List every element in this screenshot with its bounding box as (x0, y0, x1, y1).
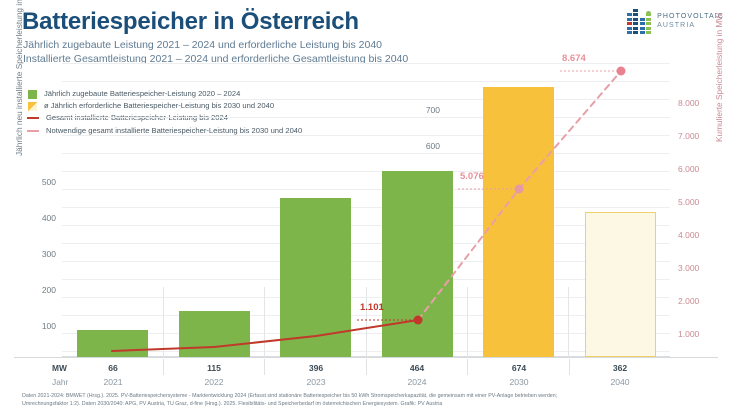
table-column-separator (366, 359, 367, 375)
table-row-label-mw: MW (52, 363, 67, 373)
table-cell-mw-2022: 115 (178, 363, 250, 373)
y-axis-right-tick-6000: 6.000 (678, 164, 718, 174)
footnote: Daten 2021-2024: BMWET (Hrsg.). 2025. PV… (22, 392, 722, 408)
table-cell-year-2022: 2022 (178, 377, 250, 387)
plot-area: 500 400 300 200 100 600 700 1.000 2.000 … (62, 52, 670, 357)
legend-swatch-yellow-square-icon (28, 102, 37, 111)
y-axis-right-tick-5000: 5.000 (678, 197, 718, 207)
datapoint-label-2030: 5.076 (460, 171, 484, 182)
table-column-separator (569, 359, 570, 375)
y-axis-left-tick-100: 100 (22, 321, 56, 331)
table-cell-mw-2024: 464 (381, 363, 453, 373)
y-axis-left-tick-300: 300 (22, 249, 56, 259)
y-axis-left-tick-200: 200 (22, 285, 56, 295)
table-cell-year-2021: 2021 (77, 377, 149, 387)
legend-swatch-green-square-icon (28, 90, 37, 99)
y-axis-left-title: Jährlich neu installierte Speicherleistu… (14, 0, 24, 156)
datapoint-label-2040: 8.674 (562, 53, 586, 64)
footnote-line-2: Umrechnungsfaktor 1:2). Daten 2030/2040:… (22, 400, 722, 408)
table-cell-year-2024: 2024 (381, 377, 453, 387)
table-column-separator (467, 359, 468, 375)
y-axis-right-title: Kumulierte Speicherleistung in MW (714, 0, 724, 142)
data-table: MW Jahr 66 115 396 464 674 362 2021 2022… (0, 357, 732, 391)
dashed-cumulative-line (418, 71, 621, 320)
datapoint-2040 (617, 67, 626, 76)
y-axis-right-tick-8000: 8.000 (678, 98, 718, 108)
datapoint-2024 (414, 316, 423, 325)
solid-cumulative-line (112, 320, 418, 351)
table-cell-mw-2021: 66 (77, 363, 149, 373)
y-axis-left-tick-400: 400 (22, 213, 56, 223)
table-cell-year-2030: 2030 (483, 377, 555, 387)
table-column-separator (163, 359, 164, 375)
subtitle-line-1: Jährlich zugebaute Leistung 2021 – 2024 … (23, 38, 408, 52)
datapoint-2030 (515, 185, 524, 194)
y-axis-right-tick-7000: 7.000 (678, 131, 718, 141)
photovoltaic-austria-logo: PHOTOVOLTAIC AUSTRIA (627, 8, 724, 34)
table-cell-mw-2040: 362 (584, 363, 656, 373)
y-axis-right-tick-4000: 4.000 (678, 230, 718, 240)
table-row-label-year: Jahr (52, 377, 68, 387)
y-axis-right-tick-3000: 3.000 (678, 263, 718, 273)
y-axis-right-tick-2000: 2.000 (678, 296, 718, 306)
table-top-rule (14, 357, 718, 358)
table-cell-year-2023: 2023 (280, 377, 352, 387)
page-title: Batteriespeicher in Österreich (22, 8, 359, 36)
logo-mark-icon (627, 8, 652, 34)
table-column-separator (264, 359, 265, 375)
datapoint-label-2024: 1.101 (360, 302, 384, 313)
y-axis-right-tick-1000: 1.000 (678, 329, 718, 339)
y-axis-left-tick-500: 500 (22, 177, 56, 187)
table-cell-mw-2023: 396 (280, 363, 352, 373)
legend-swatch-dashed-line-icon (27, 130, 39, 132)
footnote-line-1: Daten 2021-2024: BMWET (Hrsg.). 2025. PV… (22, 392, 722, 400)
table-cell-year-2040: 2040 (584, 377, 656, 387)
legend-swatch-solid-line-icon (27, 117, 39, 119)
table-cell-mw-2030: 674 (483, 363, 555, 373)
chart-page: Batteriespeicher in Österreich Jährlich … (0, 0, 732, 416)
